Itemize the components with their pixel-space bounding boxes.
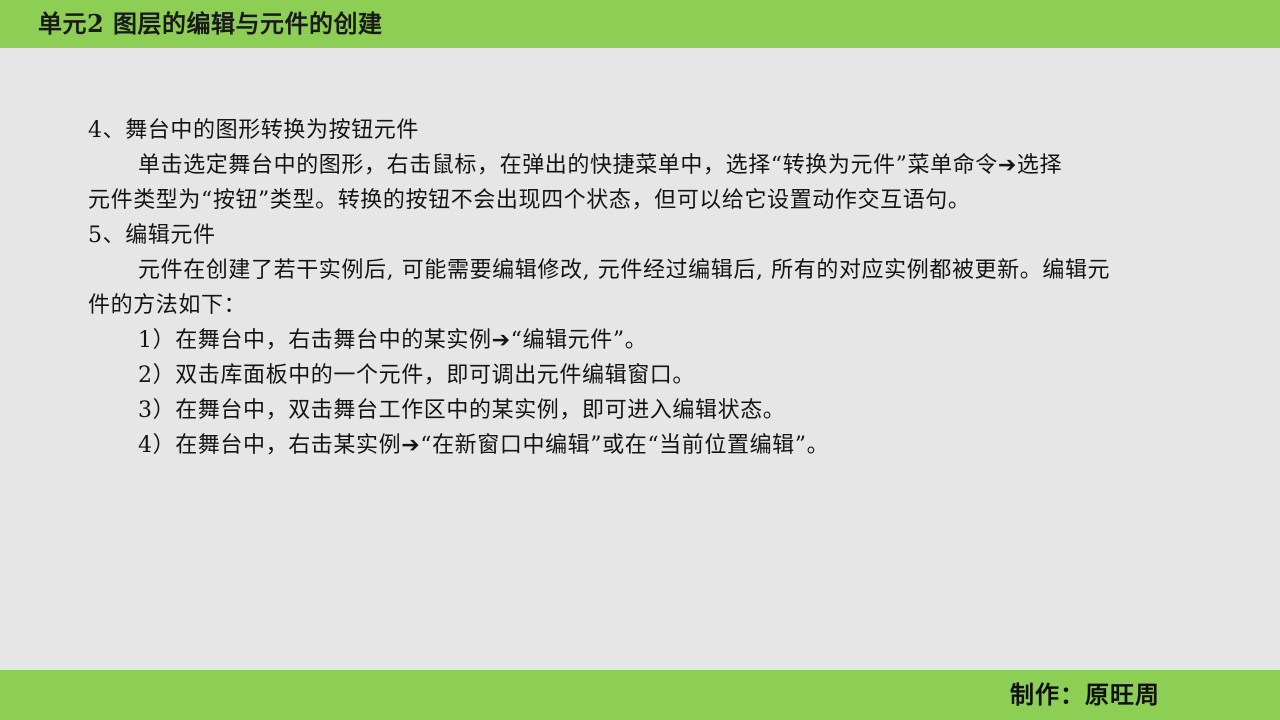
body-text-block: 4、舞台中的图形转换为按钮元件 单击选定舞台中的图形，右击鼠标，在弹出的快捷菜单…: [88, 113, 1168, 463]
section-heading-4: 4、舞台中的图形转换为按钮元件: [88, 113, 1168, 148]
footer-bar: 制作：原旺周: [0, 670, 1280, 720]
list-item: 4）在舞台中，右击某实例➔“在新窗口中编辑”或在“当前位置编辑”。: [88, 428, 1168, 463]
page-title: 单元2 图层的编辑与元件的创建: [38, 9, 383, 39]
list-item: 1）在舞台中，右击舞台中的某实例➔“编辑元件”。: [88, 323, 1168, 358]
list-item: 2）双击库面板中的一个元件，即可调出元件编辑窗口。: [88, 358, 1168, 393]
section-4-paragraph-line-2: 元件类型为“按钮”类型。转换的按钮不会出现四个状态，但可以给它设置动作交互语句。: [88, 183, 1168, 218]
slide-content: 4、舞台中的图形转换为按钮元件 单击选定舞台中的图形，右击鼠标，在弹出的快捷菜单…: [0, 48, 1280, 670]
section-5-paragraph-line-1: 元件在创建了若干实例后, 可能需要编辑修改, 元件经过编辑后, 所有的对应实例都…: [88, 253, 1168, 288]
section-5-paragraph-line-2: 件的方法如下：: [88, 288, 1168, 323]
list-item: 3）在舞台中，双击舞台工作区中的某实例，即可进入编辑状态。: [88, 393, 1168, 428]
header-bar: 单元2 图层的编辑与元件的创建: [0, 0, 1280, 48]
slide: 单元2 图层的编辑与元件的创建 4、舞台中的图形转换为按钮元件 单击选定舞台中的…: [0, 0, 1280, 720]
footer-credit: 制作：原旺周: [1010, 678, 1160, 712]
section-heading-5: 5、编辑元件: [88, 218, 1168, 253]
section-4-paragraph-line-1: 单击选定舞台中的图形，右击鼠标，在弹出的快捷菜单中，选择“转换为元件”菜单命令➔…: [88, 148, 1168, 183]
